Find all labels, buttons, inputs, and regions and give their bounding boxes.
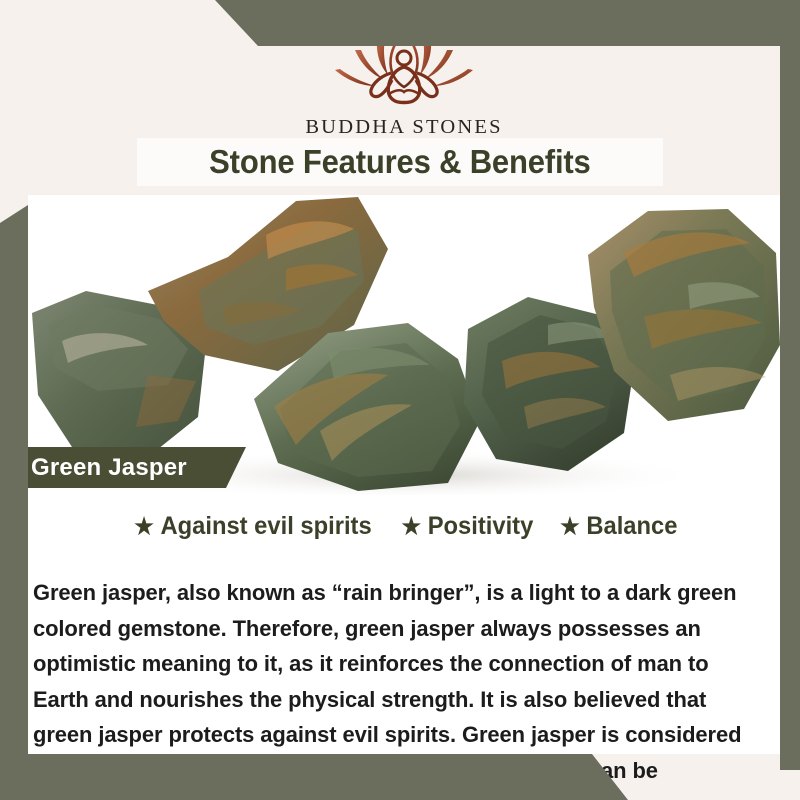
poster: BUDDHA STONES Stone Features & Benefits <box>0 0 800 800</box>
star-icon: ★ <box>401 515 421 538</box>
feature-item-0: ★ Against evil spirits <box>134 512 371 541</box>
frame-left <box>0 205 28 800</box>
stone-name-tag: Green Jasper <box>0 447 246 488</box>
feature-label-1: Positivity <box>428 512 534 541</box>
feature-label-2: Balance <box>586 512 677 541</box>
title-banner: Stone Features & Benefits <box>137 138 663 186</box>
brand-name: BUDDHA STONES <box>305 116 502 139</box>
stone-name: Green Jasper <box>31 454 187 482</box>
feature-item-2: ★ Balance <box>560 512 677 541</box>
star-icon: ★ <box>134 515 154 538</box>
feature-label-0: Against evil spirits <box>160 512 371 541</box>
page-title: Stone Features & Benefits <box>209 143 590 181</box>
star-icon: ★ <box>560 515 580 538</box>
feature-item-1: ★ Positivity <box>401 512 533 541</box>
features-row: ★ Against evil spirits ★ Positivity ★ Ba… <box>28 505 780 547</box>
frame-right <box>780 0 800 770</box>
